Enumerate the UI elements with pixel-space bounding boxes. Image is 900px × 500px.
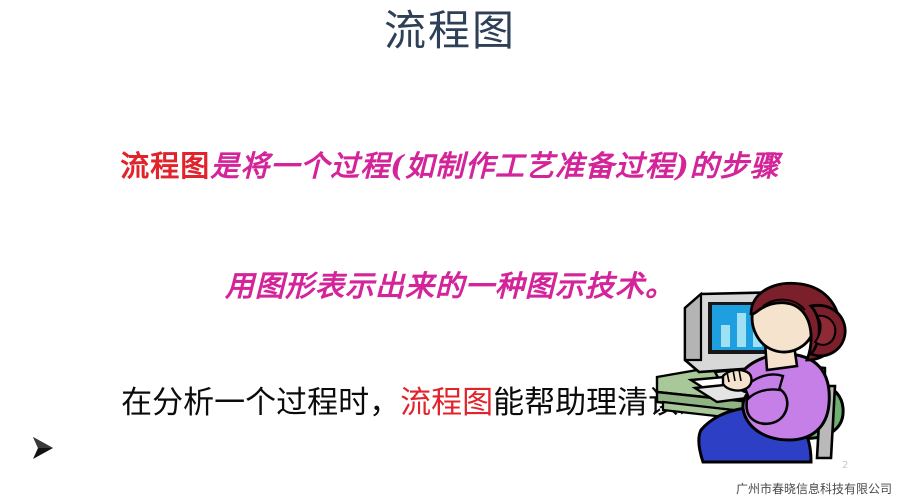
bullet-1-keyword: 流程图 [400,385,493,421]
arrow-bullet-icon [28,337,58,377]
page-title: 流程图 [0,4,900,58]
footer-company: 广州市春晓信息科技有限公司 [736,481,892,497]
woman-at-computer-clipart [655,280,895,470]
slide-canvas: 流程图 流程图是将一个过程(如制作工艺准备过程)的步骤 用图形表示出来的一种图示… [0,0,900,500]
page-number: 2 [842,460,848,472]
bullet-1-line-1-pre: 在分析一个过程时， [121,385,400,421]
